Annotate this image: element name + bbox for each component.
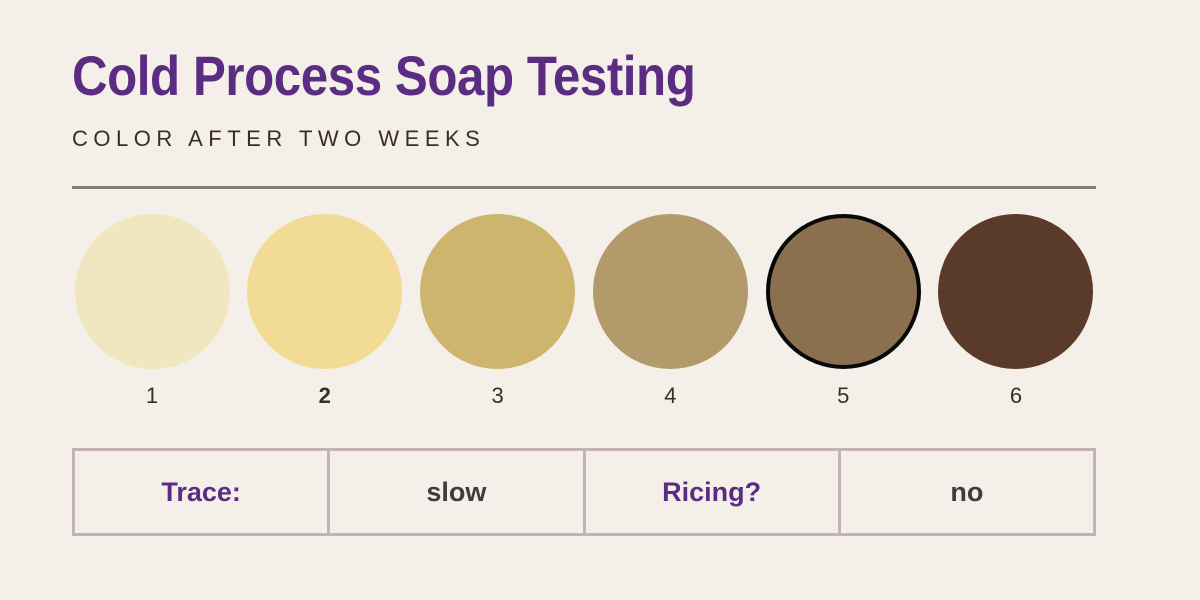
swatch-label: 5 xyxy=(837,385,849,407)
swatch-label: 3 xyxy=(491,385,503,407)
swatch-circle[interactable] xyxy=(938,214,1093,369)
page-subtitle: COLOR AFTER TWO WEEKS xyxy=(72,126,1096,152)
color-swatch[interactable]: 3 xyxy=(418,214,578,407)
color-swatch-row: 123456 xyxy=(72,214,1096,407)
swatch-circle-selected[interactable] xyxy=(766,214,921,369)
table-cell-label: Ricing? xyxy=(586,451,841,533)
page-title: Cold Process Soap Testing xyxy=(72,48,973,104)
color-swatch[interactable]: 2 xyxy=(245,214,405,407)
table-cell-value: slow xyxy=(330,451,585,533)
swatch-circle[interactable] xyxy=(75,214,230,369)
swatch-circle[interactable] xyxy=(247,214,402,369)
swatch-label: 2 xyxy=(319,385,331,407)
soap-testing-card: Cold Process Soap Testing COLOR AFTER TW… xyxy=(0,0,1200,600)
info-table: Trace:slowRicing?no xyxy=(72,448,1096,536)
swatch-label: 6 xyxy=(1010,385,1022,407)
swatch-circle[interactable] xyxy=(593,214,748,369)
header: Cold Process Soap Testing COLOR AFTER TW… xyxy=(72,48,1096,152)
header-divider xyxy=(72,186,1096,189)
color-swatch[interactable]: 6 xyxy=(936,214,1096,407)
swatch-label: 1 xyxy=(146,385,158,407)
swatch-circle[interactable] xyxy=(420,214,575,369)
table-cell-label: Trace: xyxy=(75,451,330,533)
color-swatch[interactable]: 1 xyxy=(72,214,232,407)
color-swatch[interactable]: 4 xyxy=(590,214,750,407)
swatch-label: 4 xyxy=(664,385,676,407)
table-cell-value: no xyxy=(841,451,1093,533)
color-swatch[interactable]: 5 xyxy=(763,214,923,407)
